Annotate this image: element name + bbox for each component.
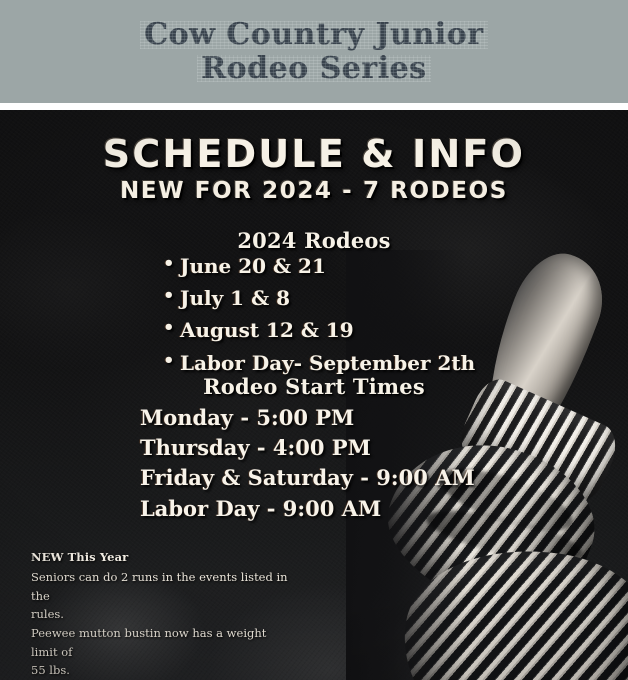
start-times-section-heading: Rodeo Start Times xyxy=(0,374,628,399)
brand-title-line-1: Cow Country Junior xyxy=(144,19,483,51)
new-this-year-block: NEW This Year Seniors can do 2 runs in t… xyxy=(31,550,293,680)
header-divider xyxy=(0,103,628,110)
new-this-year-line: Peewee mutton bustin now has a weight li… xyxy=(31,624,293,661)
poster-photo-panel: SCHEDULE & INFO NEW FOR 2024 - 7 RODEOS … xyxy=(0,110,628,680)
poster-text-content: SCHEDULE & INFO NEW FOR 2024 - 7 RODEOS … xyxy=(0,110,628,680)
list-item: Labor Day- September 2th xyxy=(163,350,475,377)
list-item: June 20 & 21 xyxy=(163,253,475,280)
site-header-band: Cow Country Junior Rodeo Series xyxy=(0,0,628,103)
list-item: July 1 & 8 xyxy=(163,285,475,312)
poster-subheadline: NEW FOR 2024 - 7 RODEOS xyxy=(0,178,628,204)
rodeos-section-heading: 2024 Rodeos xyxy=(0,228,628,253)
rodeo-schedule-poster: Cow Country Junior Rodeo Series SCHEDULE… xyxy=(0,0,628,680)
brand-title-line-2: Rodeo Series xyxy=(201,53,426,85)
new-this-year-line: rules. xyxy=(31,605,293,624)
list-item: August 12 & 19 xyxy=(163,317,475,344)
list-item: Labor Day - 9:00 AM xyxy=(140,494,475,524)
list-item: Friday & Saturday - 9:00 AM xyxy=(140,463,475,493)
new-this-year-line: Seniors can do 2 runs in the events list… xyxy=(31,568,293,605)
rodeo-start-times-list: Monday - 5:00 PM Thursday - 4:00 PM Frid… xyxy=(140,403,475,524)
rodeo-dates-list: June 20 & 21 July 1 & 8 August 12 & 19 L… xyxy=(163,253,475,382)
poster-headline: SCHEDULE & INFO xyxy=(0,132,628,176)
new-this-year-line: 55 lbs. xyxy=(31,661,293,680)
list-item: Thursday - 4:00 PM xyxy=(140,433,475,463)
new-this-year-title: NEW This Year xyxy=(31,550,293,564)
list-item: Monday - 5:00 PM xyxy=(140,403,475,433)
